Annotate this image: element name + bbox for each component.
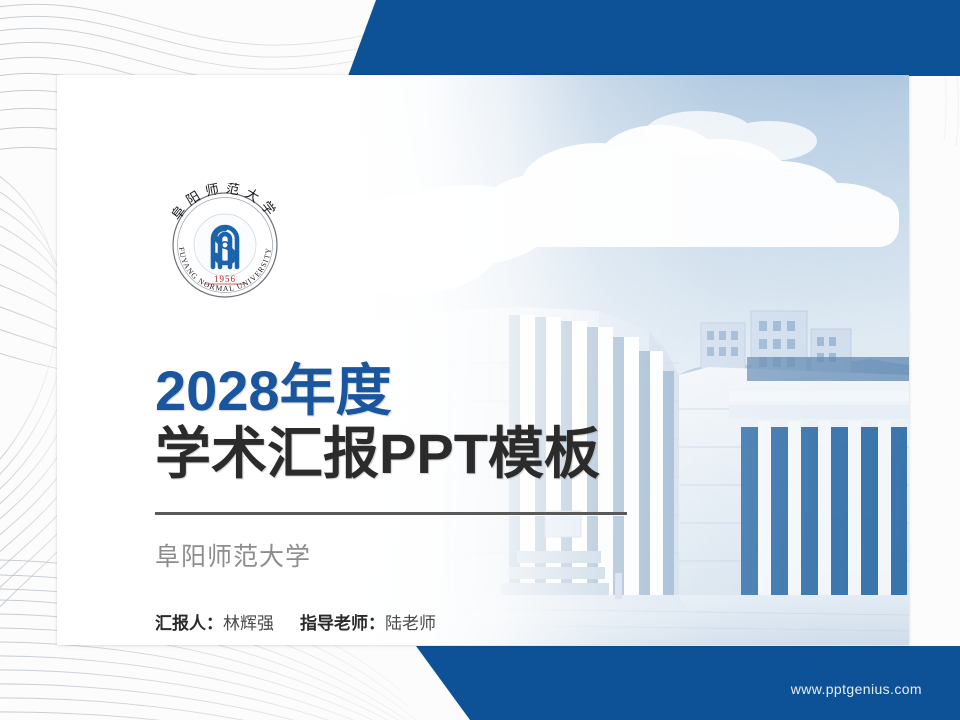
title-main-line: 学术汇报PPT模板 [155,423,675,486]
advisor-name: 陆老师 [385,614,436,633]
presenter-name: 林辉强 [223,614,274,633]
advisor-separator: ： [368,614,385,633]
title-year-line: 2028年度 [155,361,675,421]
presenter-label: 汇报人 [155,614,206,633]
footer-website-url[interactable]: www.pptgenius.com [791,681,922,697]
presentation-slide: 阜阳师范大学 FUYANG NORMAL UNIVERSITY 1956 202… [0,0,960,720]
logo-founding-year: 1956 [214,274,236,284]
university-logo-icon: 阜阳师范大学 FUYANG NORMAL UNIVERSITY 1956 [155,183,295,303]
slide-content-card: 阜阳师范大学 FUYANG NORMAL UNIVERSITY 1956 202… [57,75,909,645]
title-divider-rule [155,512,627,515]
presenter-separator: ： [206,614,223,633]
advisor-label: 指导老师 [300,614,368,633]
title-text-block: 2028年度 学术汇报PPT模板 阜阳师范大学 汇报人：林辉强指导老师：陆老师 [155,361,675,634]
organization-name: 阜阳师范大学 [155,537,675,573]
credits-line: 汇报人：林辉强指导老师：陆老师 [155,609,675,634]
